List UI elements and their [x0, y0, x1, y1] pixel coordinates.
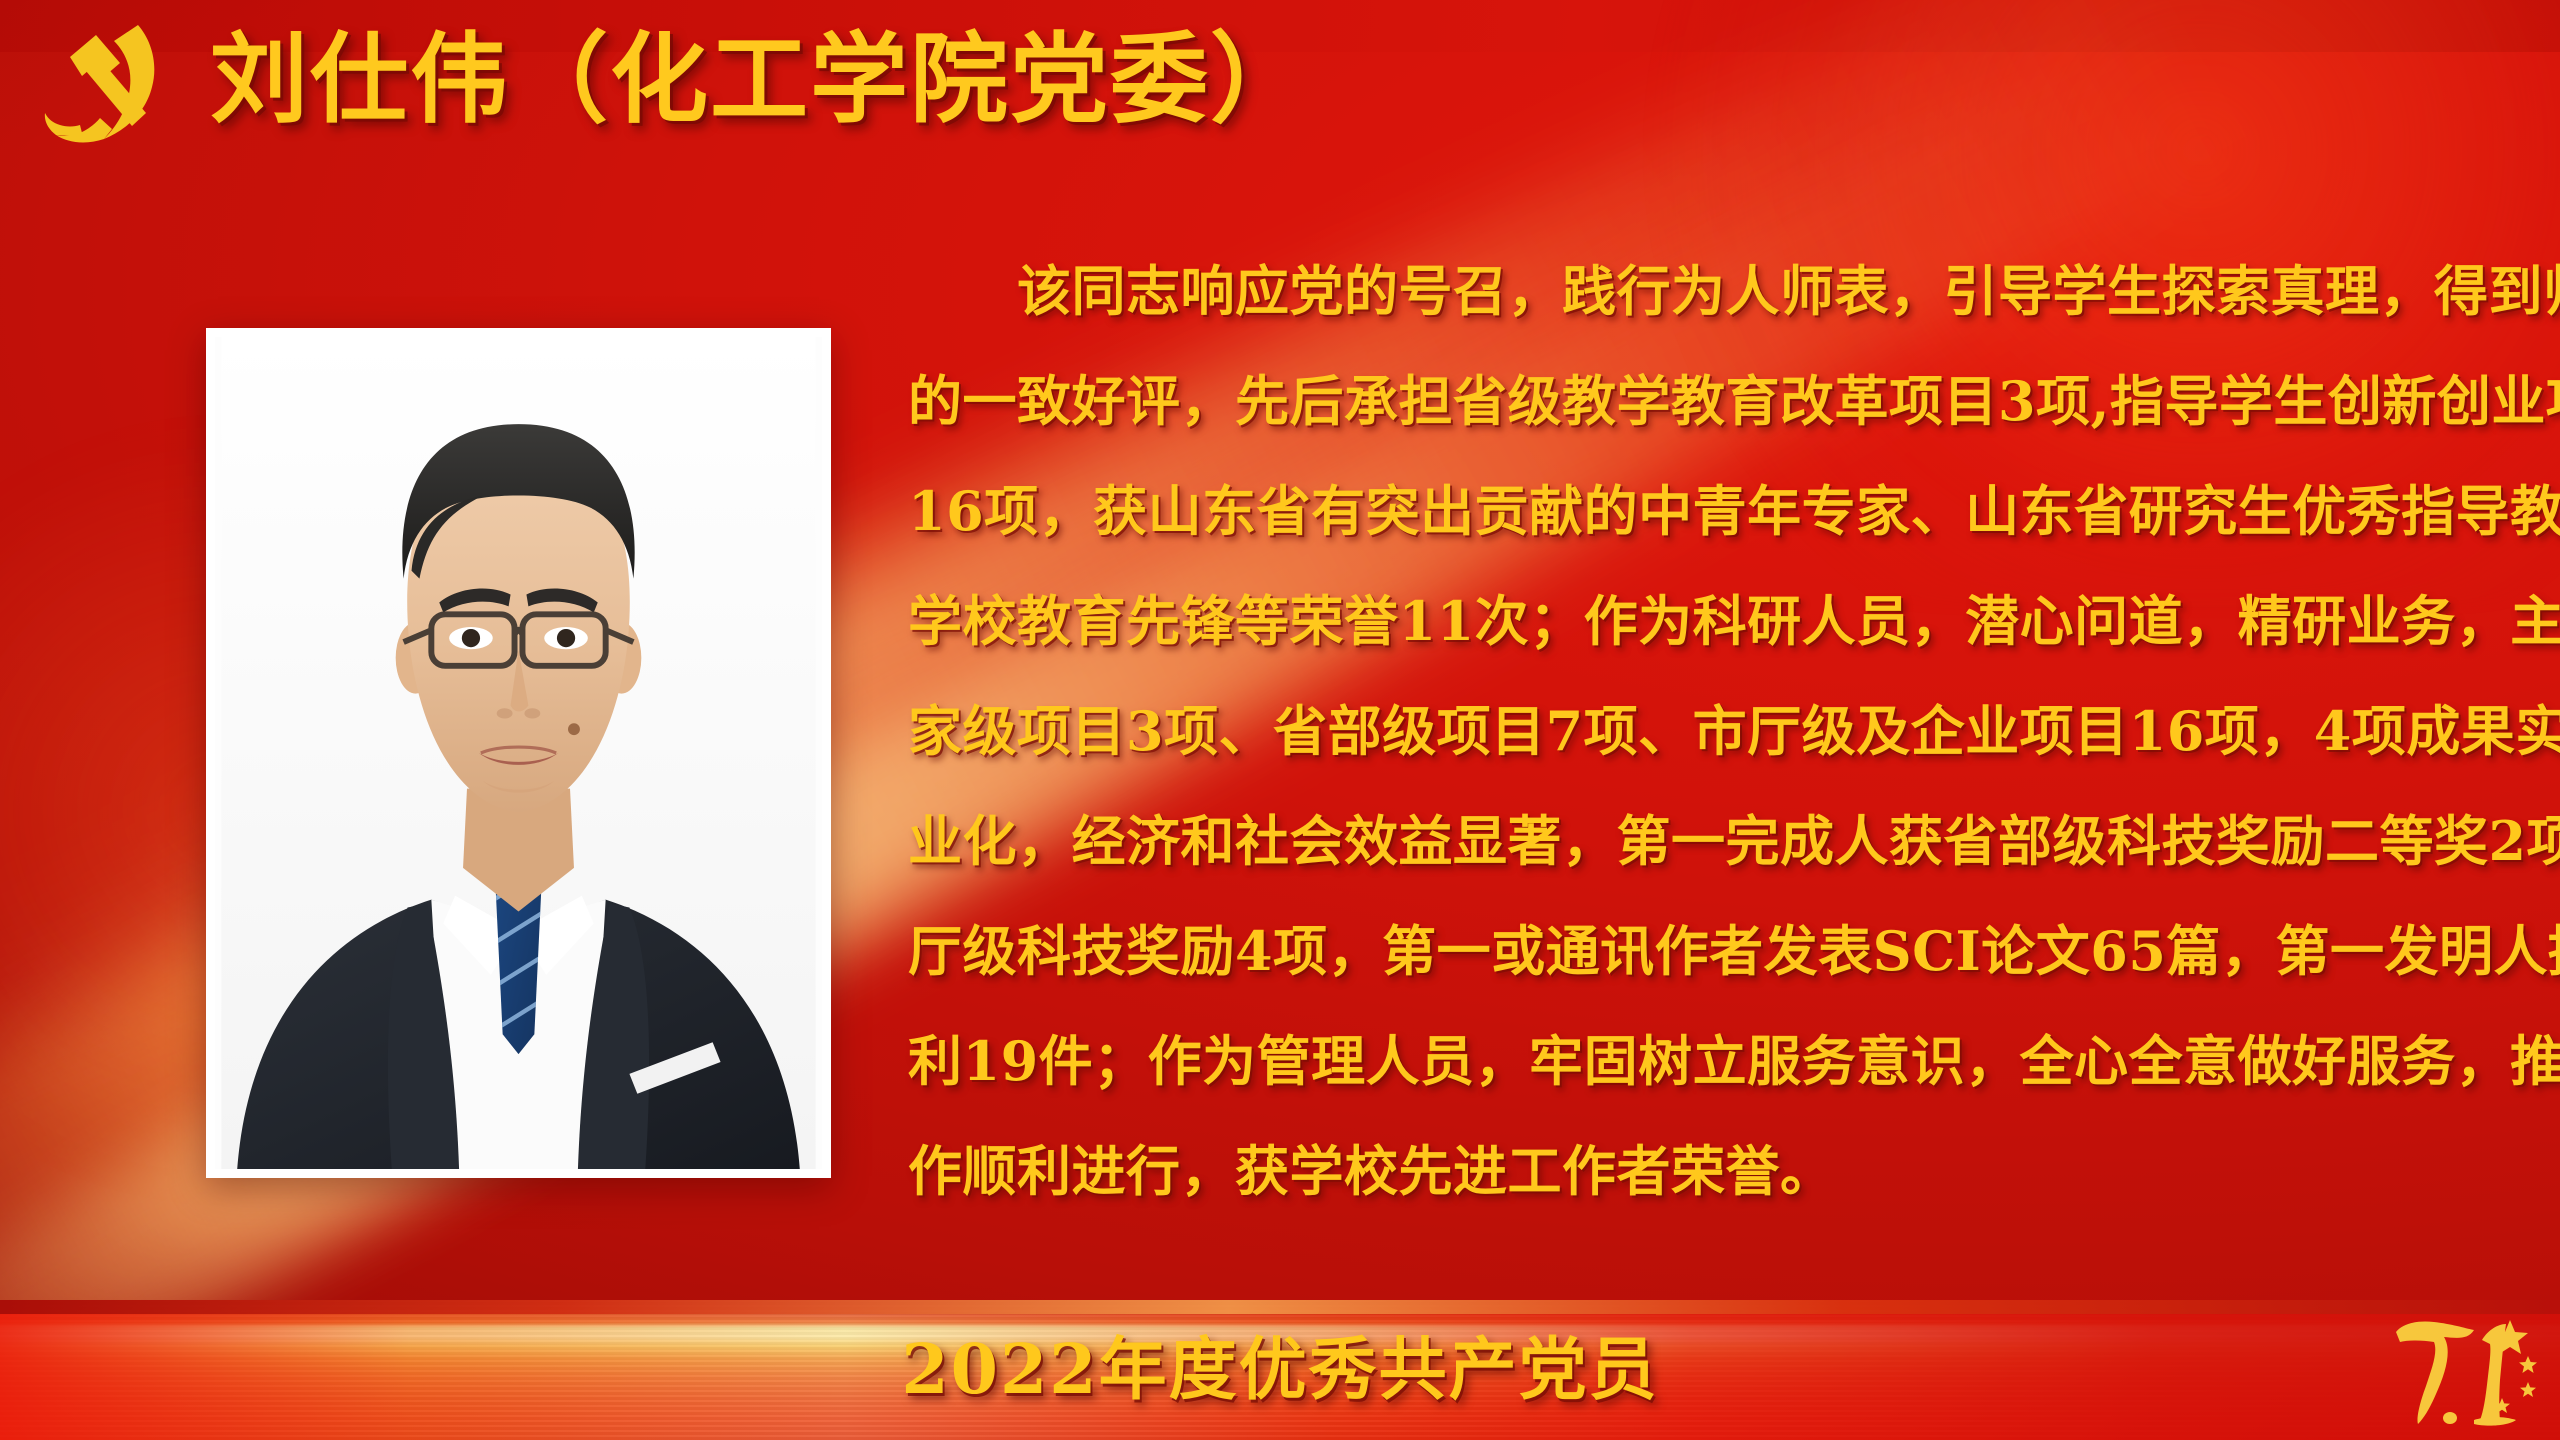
portrait-photo: [215, 337, 822, 1169]
bio-line: 的一致好评，先后承担省级教学教育改革项目3项,指导学生创新创业项目: [908, 346, 2528, 456]
bottom-banner: 2022年度优秀共产党员: [0, 1300, 2560, 1440]
seven-one-anniversary-icon: [2382, 1306, 2542, 1434]
page-title: 刘仕伟（化工学院党委）: [210, 31, 1310, 129]
biography-text: 该同志响应党的号召，践行为人师表，引导学生探索真理，得到师生 的一致好评，先后承…: [908, 236, 2528, 1226]
bio-line: 学校教育先锋等荣誉11次；作为科研人员，潜心问道，精研业务，主持国: [908, 566, 2528, 676]
banner-title: 2022年度优秀共产党员: [0, 1336, 2560, 1404]
bio-line: 16项，获山东省有突出贡献的中青年专家、山东省研究生优秀指导教师、: [908, 456, 2528, 566]
bio-line: 业化，经济和社会效益显著，第一完成人获省部级科技奖励二等奖2项、市: [908, 786, 2528, 896]
bio-line: 该同志响应党的号召，践行为人师表，引导学生探索真理，得到师生: [908, 236, 2528, 346]
portrait-photo-frame: [206, 328, 831, 1178]
bio-line: 家级项目3项、省部级项目7项、市厅级及企业项目16项，4项成果实现了产: [908, 676, 2528, 786]
poster-canvas: 刘仕伟（化工学院党委）: [0, 0, 2560, 1440]
cpc-hammer-sickle-icon: [34, 19, 166, 149]
banner-top-edge: [0, 1300, 2560, 1314]
bio-line: 作顺利进行，获学校先进工作者荣誉。: [908, 1116, 2528, 1226]
poster-header: 刘仕伟（化工学院党委）: [0, 0, 2560, 160]
bio-line: 厅级科技奖励4项，第一或通讯作者发表SCI论文65篇，第一发明人授权专: [908, 896, 2528, 1006]
bio-line: 利19件；作为管理人员，牢固树立服务意识，全心全意做好服务，推进工: [908, 1006, 2528, 1116]
